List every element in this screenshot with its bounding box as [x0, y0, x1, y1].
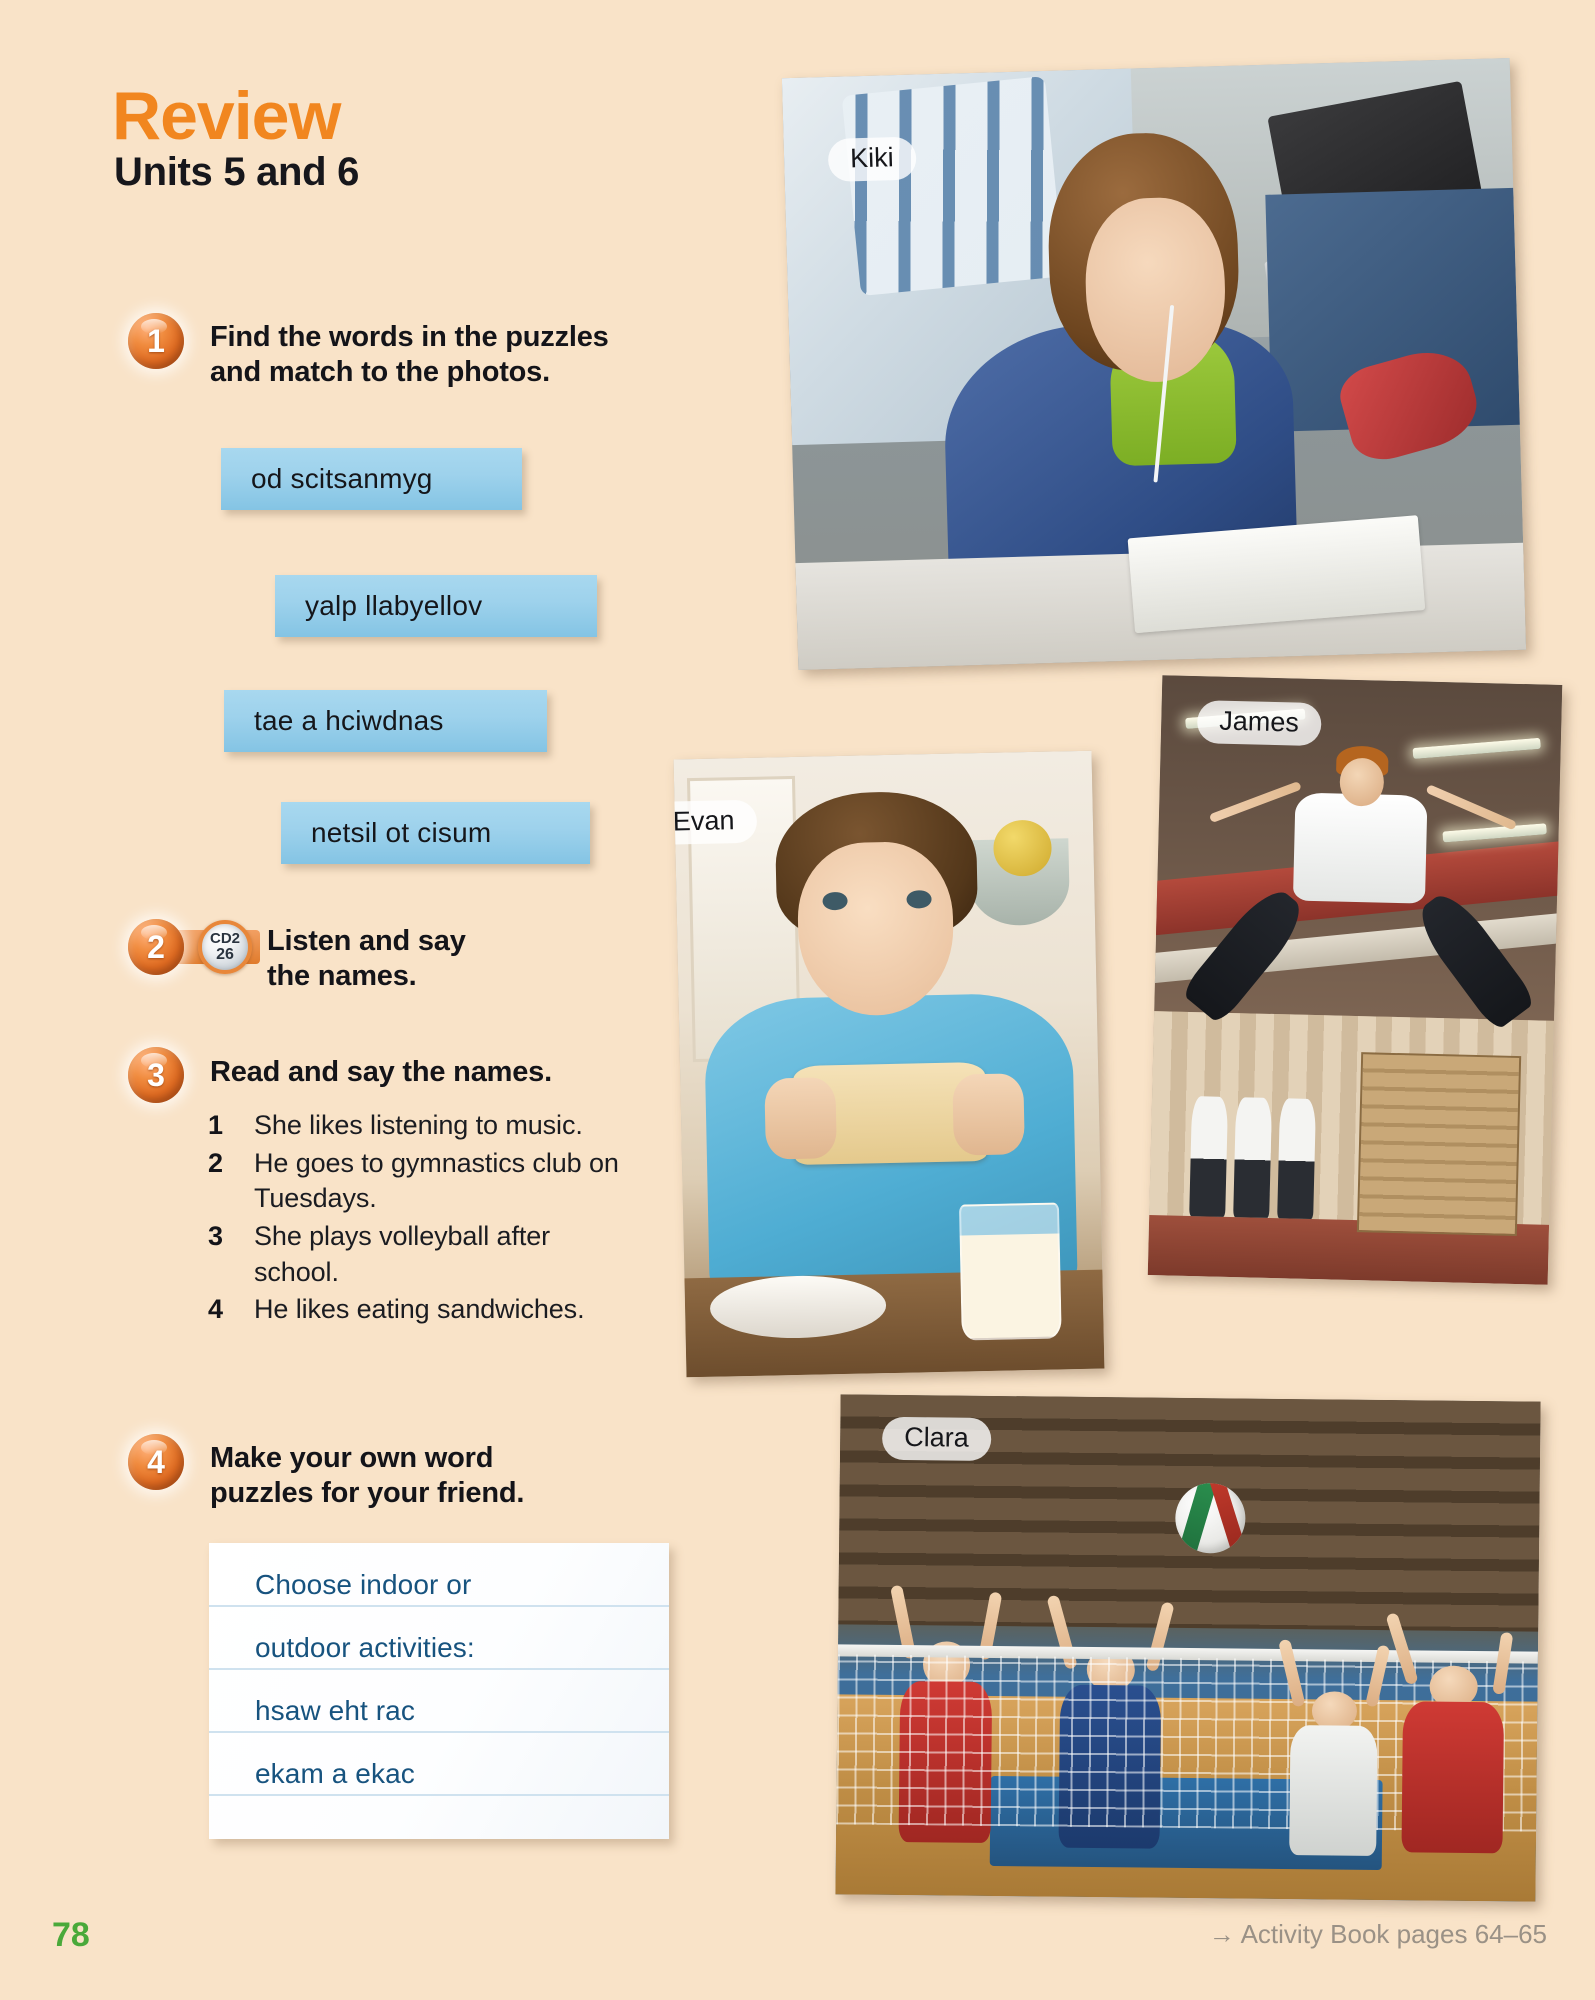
exercise-badge-3-number: 3: [147, 1059, 165, 1091]
sentence-text: He goes to gymnastics club on Tuesdays.: [254, 1146, 638, 1217]
photo-clara[interactable]: Clara: [835, 1394, 1540, 1901]
clara-player-red-2: [1388, 1620, 1517, 1901]
photo-evan-image: [674, 751, 1105, 1378]
list-item: 3 She plays volleyball after school.: [208, 1219, 638, 1290]
exercise-1-instruction: Find the words in the puzzles and match …: [210, 320, 630, 391]
exercise-badge-1-number: 1: [147, 325, 165, 357]
exercise-badge-4-number: 4: [147, 1446, 165, 1478]
player-body: [1289, 1725, 1378, 1856]
notepad-line-3: hsaw eht rac: [255, 1697, 415, 1725]
photo-evan[interactable]: Evan: [674, 751, 1105, 1378]
puzzle-word-1: od scitsanmyg: [251, 463, 433, 495]
photo-james[interactable]: James: [1148, 675, 1563, 1285]
sentence-number: 3: [208, 1219, 254, 1290]
puzzle-card-3[interactable]: tae a hciwdnas: [224, 690, 547, 752]
name-tag-evan: Evan: [674, 800, 757, 845]
puzzle-word-2: yalp llabyellov: [305, 590, 482, 622]
workbook-page: Review Units 5 and 6 1 Find the words in…: [0, 0, 1595, 2000]
player-arm: [1493, 1632, 1514, 1695]
list-item: 4 He likes eating sandwiches.: [208, 1292, 638, 1328]
name-tag-james: James: [1197, 700, 1322, 746]
page-title: Review: [112, 82, 340, 150]
puzzle-word-4: netsil ot cisum: [311, 817, 491, 849]
sentence-number: 1: [208, 1108, 254, 1144]
notepad-line-2: outdoor activities:: [255, 1634, 475, 1662]
puzzle-card-4[interactable]: netsil ot cisum: [281, 802, 590, 864]
exercise-badge-2[interactable]: 2: [128, 919, 184, 975]
evan-hand: [952, 1074, 1025, 1156]
kiki-cushion: [841, 76, 1063, 296]
james-classmate: [1189, 1096, 1228, 1217]
list-item: 2 He goes to gymnastics club on Tuesdays…: [208, 1146, 638, 1217]
activity-book-reference: → Activity Book pages 64–65: [1209, 1921, 1547, 1947]
player-arm: [1365, 1645, 1390, 1709]
exercise-badge-2-number: 2: [147, 931, 165, 963]
exercise-2-instruction-text: Listen and say the names.: [267, 925, 466, 992]
exercise-badge-3[interactable]: 3: [128, 1047, 184, 1103]
sentence-text: He likes eating sandwiches.: [254, 1292, 584, 1328]
exercise-1-instruction-text: Find the words in the puzzles and match …: [210, 321, 609, 388]
player-body: [1401, 1701, 1503, 1853]
audio-track-number: 26: [216, 947, 234, 963]
list-item: 1 She likes listening to music.: [208, 1108, 638, 1144]
audio-cd-label: CD2: [210, 931, 240, 946]
sentence-list: 1 She likes listening to music. 2 He goe…: [208, 1108, 638, 1330]
sentence-number: 4: [208, 1292, 254, 1328]
exercise-2-instruction: Listen and say the names.: [267, 924, 597, 995]
exercise-3-instruction: Read and say the names.: [210, 1055, 640, 1090]
exercise-4-instruction-text: Make your own word puzzles for your frie…: [210, 1442, 524, 1509]
exercise-4-instruction: Make your own word puzzles for your frie…: [210, 1441, 630, 1512]
player-arm: [1278, 1639, 1305, 1708]
page-subtitle: Units 5 and 6: [114, 152, 359, 192]
puzzle-card-2[interactable]: yalp llabyellov: [275, 575, 597, 637]
puzzle-card-1[interactable]: od scitsanmyg: [221, 448, 522, 510]
notepad-rule: [209, 1605, 669, 1607]
photo-clara-image: [835, 1394, 1540, 1901]
left-content-column: Review Units 5 and 6 1 Find the words in…: [0, 0, 660, 2000]
volleyball-icon: [1175, 1483, 1246, 1554]
photo-james-image: [1148, 675, 1563, 1285]
audio-cd-icon[interactable]: CD2 26: [198, 920, 252, 974]
james-vaulting-box: [1357, 1052, 1521, 1236]
evan-face: [797, 840, 955, 1016]
james-classmate: [1233, 1097, 1272, 1218]
exercise-badge-4[interactable]: 4: [128, 1434, 184, 1490]
notepad-line-1: Choose indoor or: [255, 1571, 471, 1599]
player-arm: [1385, 1612, 1418, 1685]
puzzle-word-3: tae a hciwdnas: [254, 705, 444, 737]
name-tag-kiki: Kiki: [828, 137, 917, 182]
exercise-badge-1[interactable]: 1: [128, 313, 184, 369]
sentence-text: She plays volleyball after school.: [254, 1219, 638, 1290]
notepad-rule: [209, 1668, 669, 1670]
james-classmate: [1277, 1098, 1316, 1219]
photo-kiki[interactable]: Kiki: [782, 58, 1526, 670]
notepad-rule: [209, 1794, 669, 1796]
name-tag-clara: Clara: [882, 1417, 991, 1461]
notepad-line-4: ekam a ekac: [255, 1760, 415, 1788]
evan-hand: [764, 1077, 837, 1159]
notepad[interactable]: Choose indoor or outdoor activities: hsa…: [209, 1543, 669, 1839]
sentence-text: She likes listening to music.: [254, 1108, 583, 1144]
evan-glass-of-milk: [959, 1203, 1062, 1341]
exercise-3-instruction-text: Read and say the names.: [210, 1056, 552, 1088]
notepad-rule: [209, 1731, 669, 1733]
james-shirt: [1293, 792, 1428, 903]
clara-player-white: [1276, 1639, 1391, 1900]
sentence-number: 2: [208, 1146, 254, 1217]
page-number: 78: [52, 1918, 90, 1952]
